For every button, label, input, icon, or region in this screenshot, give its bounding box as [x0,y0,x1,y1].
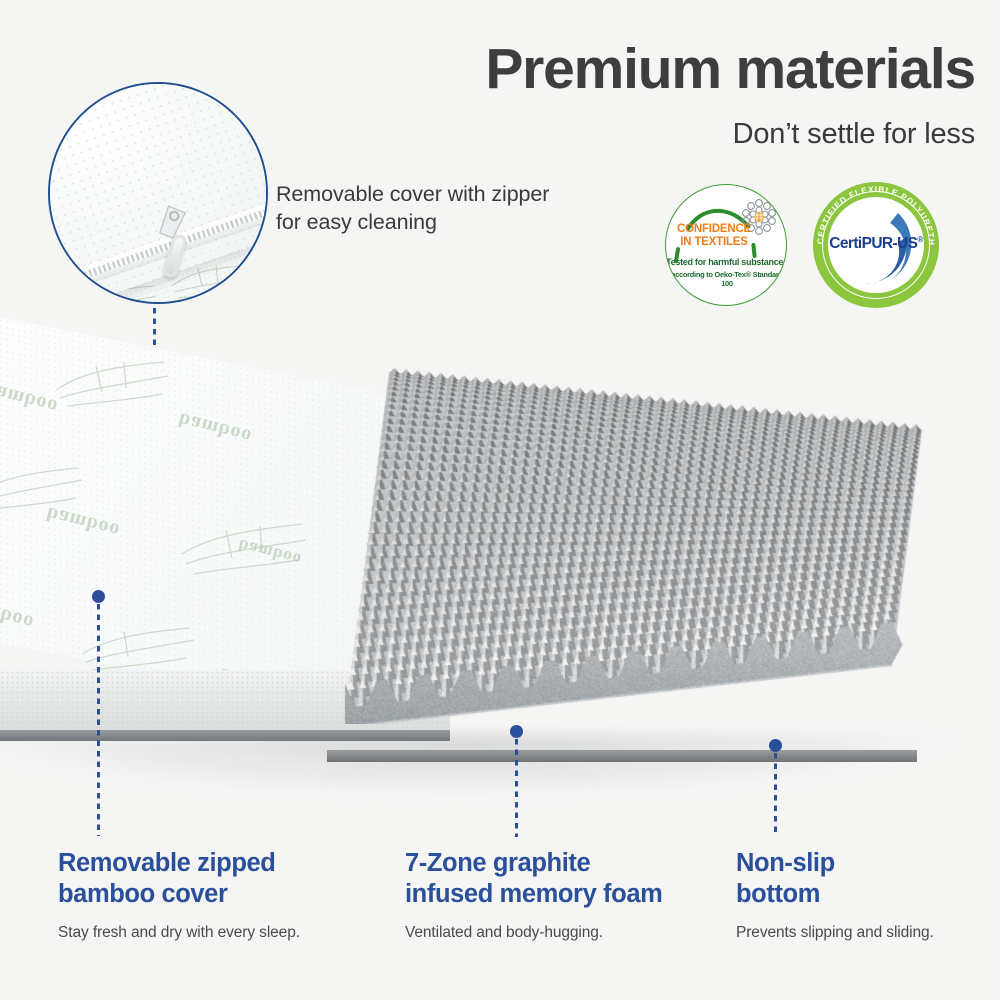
eggcrate-foam-slab [327,352,927,742]
infographic-canvas: Premium materials Don’t settle for less [0,0,1000,1000]
certipur-registered-mark: ® [917,235,922,244]
feature-3-dot [769,739,782,752]
feature-1-title-line1: Removable zipped [58,848,378,879]
feature-3-title-line1: Non-slip [736,848,996,879]
oeko-line2: IN TEXTILES [680,236,747,248]
feature-3-title-line2: bottom [736,879,996,910]
product-floor-shadow [0,735,950,795]
zipper-callout-line1: Removable cover with zipper [276,180,606,208]
feature-1-title: Removable zipped bamboo cover [58,848,378,909]
feature-block-3: Non-slip bottom Prevents slipping and sl… [736,848,996,943]
oeko-line1: CONFIDENCE [677,223,751,235]
oeko-line3: Tested for harmful substances [666,257,787,267]
feature-2-title-line2: infused memory foam [405,879,705,910]
zipper-photo [50,84,266,302]
feature-1-title-line2: bamboo cover [58,879,378,910]
feature-2-subtitle: Ventilated and body-hugging. [405,923,705,943]
feature-1-line [97,604,100,836]
certification-badges: CONFIDENCE IN TEXTILES Tested for harmfu… [665,182,965,307]
bamboo-leaf-icon-1 [52,356,172,414]
non-slip-base-strip-right [327,750,917,762]
feature-3-title: Non-slip bottom [736,848,996,909]
bamboo-leaf-icon-3 [178,518,308,580]
feature-2-title-line1: 7-Zone graphite [405,848,705,879]
page-subtitle: Don’t settle for less [500,118,975,151]
certipur-arc-bottom: WWW.CERTIPUR.US [834,258,918,291]
bamboo-leaf-icon-2 [0,464,84,516]
feature-2-line [515,739,518,837]
zipper-callout-line2: for easy cleaning [276,208,606,236]
feature-block-2: 7-Zone graphite infused memory foam Vent… [405,848,705,943]
product-photo: bamboo bamboo bamboo bamboo bamboo bambo… [0,330,1000,810]
certipur-wordmark-text: CertiPUR-US [829,235,917,252]
oeko-line4: according to Oeko-Tex® Standard 100 [666,270,787,288]
feature-1-dot [92,590,105,603]
certipur-us-badge: CONTAINS CERTIFIED FLEXIBLE POLYURETHANE… [813,182,939,308]
zipper-closeup-inset [48,82,268,304]
certipur-wordmark: CertiPUR-US® [813,235,939,253]
feature-1-subtitle: Stay fresh and dry with every sleep. [58,923,378,943]
feature-3-subtitle: Prevents slipping and sliding. [736,923,996,943]
feature-2-title: 7-Zone graphite infused memory foam [405,848,705,909]
feature-3-line [774,753,777,837]
feature-block-1: Removable zipped bamboo cover Stay fresh… [58,848,378,943]
eggcrate-foam-surface [327,352,927,724]
zipper-callout-text: Removable cover with zipper for easy cle… [276,180,606,237]
oeko-tex-badge: CONFIDENCE IN TEXTILES Tested for harmfu… [665,184,787,306]
feature-2-dot [510,725,523,738]
page-title: Premium materials [395,40,975,100]
eggcrate-peaks-render [327,352,927,724]
oeko-headline: CONFIDENCE IN TEXTILES [666,223,762,249]
